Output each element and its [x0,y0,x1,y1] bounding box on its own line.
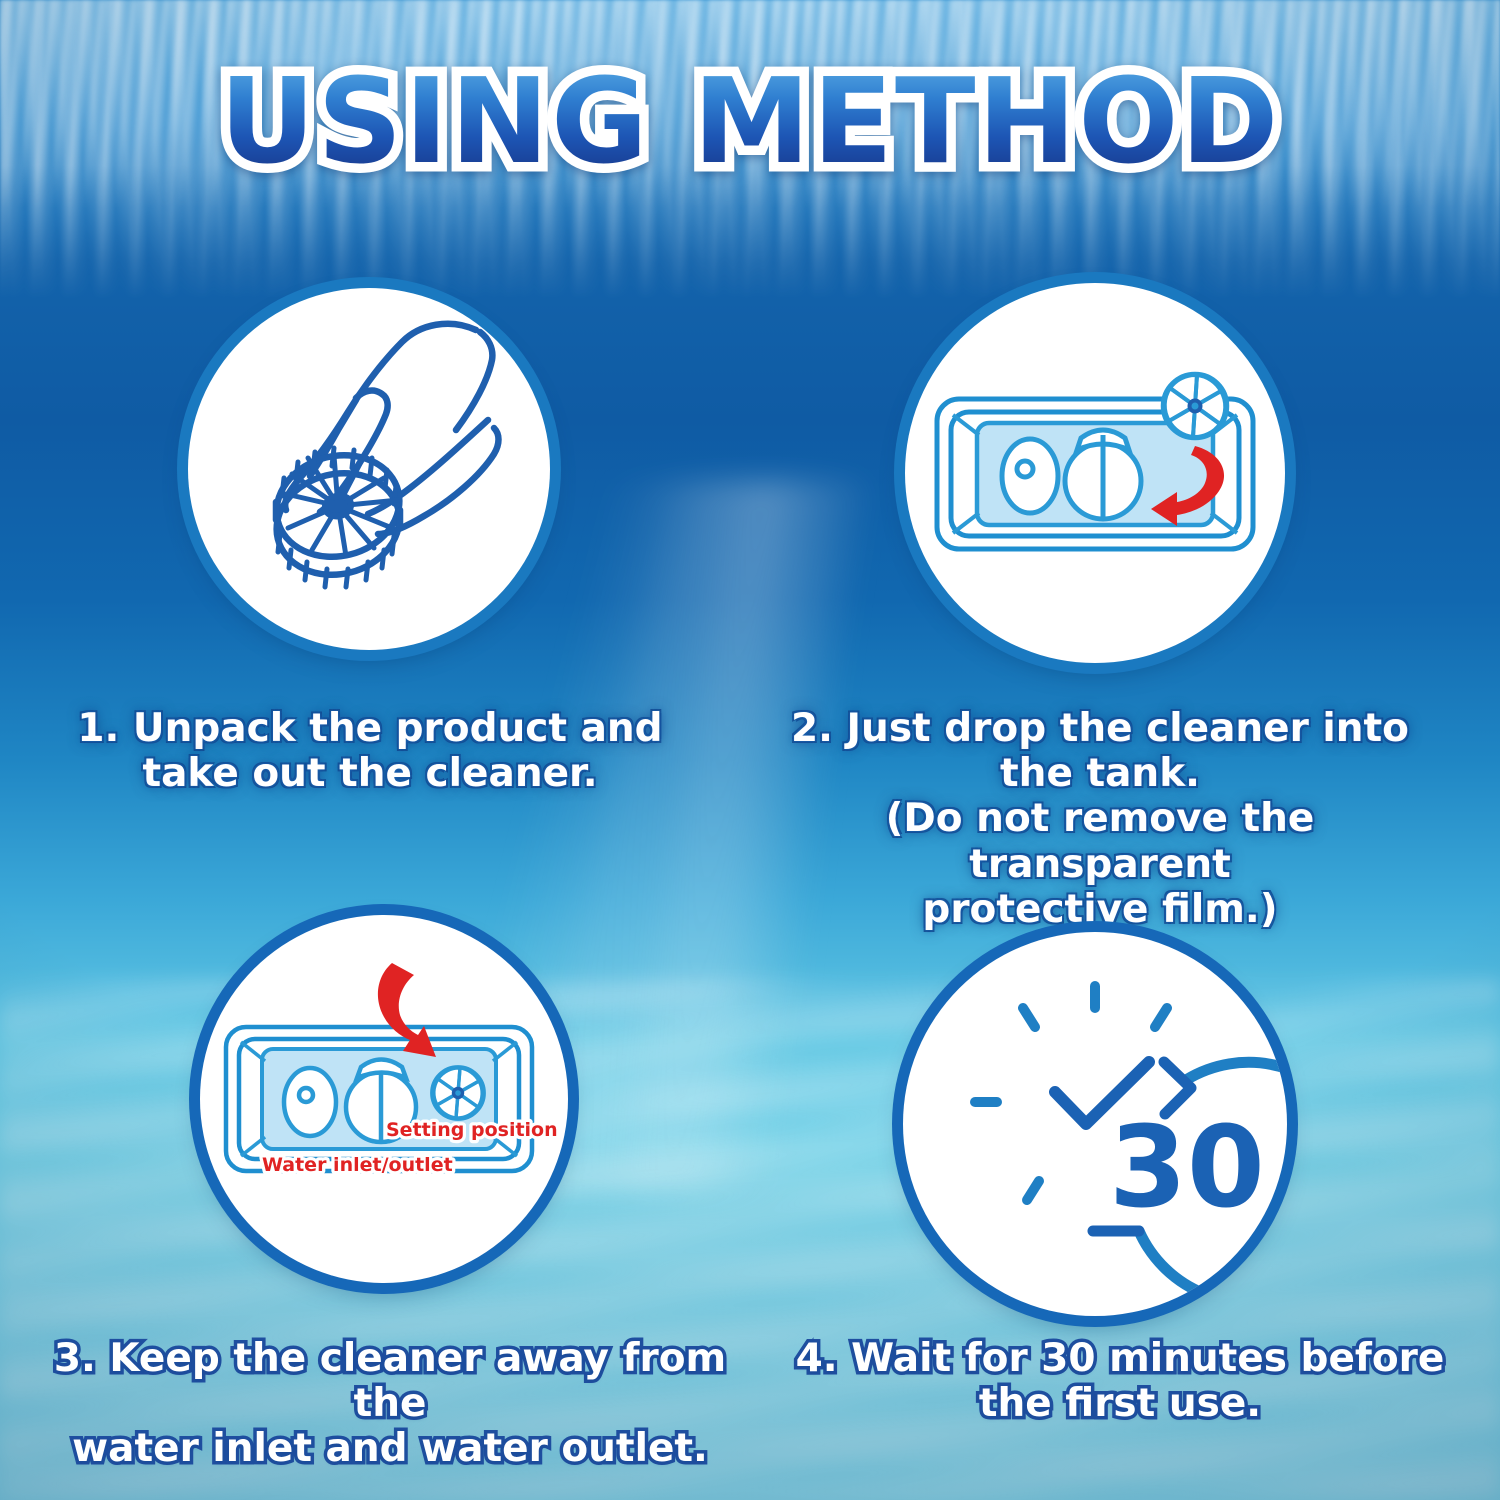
hand-holding-disc-cleaner-icon [188,288,550,650]
step-2-caption-line-2: (Do not remove the transparent [760,796,1440,886]
step-3-icon-circle: Setting position Setting position Water … [200,915,568,1283]
step-2-caption-line-1: 2. Just drop the cleaner into the tank. [760,706,1440,796]
page-title: USING METHOD USING METHOD [0,62,1500,180]
svg-text:Setting position: Setting position [386,1119,558,1141]
step-4-caption: 4. Wait for 30 minutes before the first … [790,1336,1450,1426]
clock-minutes-value: 30 [1109,1103,1265,1233]
step-3-caption-line-2: water inlet and water outlet. [40,1426,740,1471]
step-4-caption-line-2: the first use. [790,1381,1450,1426]
toilet-tank-drop-cleaner-icon [905,283,1285,663]
red-curved-arrow-icon [378,963,436,1057]
step-4-icon-circle: 30 [903,932,1287,1316]
toilet-tank-setting-position-icon: Setting position Setting position Water … [200,915,568,1283]
water-inlet-outlet-label: Water inlet/outlet Water inlet/outlet [262,1154,453,1176]
step-3-caption: 3. Keep the cleaner away from the water … [40,1336,740,1472]
step-1-caption: 1. Unpack the product and take out the c… [60,706,680,796]
step-2-caption: 2. Just drop the cleaner into the tank. … [760,706,1440,932]
step-2-caption-line-3: protective film.) [760,887,1440,932]
step-4-caption-line-1: 4. Wait for 30 minutes before [790,1336,1450,1381]
page-title-fill: USING METHOD [220,52,1281,190]
instruction-poster: USING METHOD USING METHOD [0,0,1500,1500]
step-1-icon-circle [188,288,550,650]
svg-text:Water inlet/outlet: Water inlet/outlet [262,1154,453,1176]
step-1-caption-line-2: take out the cleaner. [60,751,680,796]
step-2-icon-circle [905,283,1285,663]
step-1-caption-line-1: 1. Unpack the product and [60,706,680,751]
step-3-caption-line-1: 3. Keep the cleaner away from the [40,1336,740,1426]
disc-cleaner-graphic [432,1067,484,1119]
disc-cleaner-graphic [1163,374,1227,438]
clock-30-minutes-icon: 30 [903,932,1287,1316]
setting-position-label: Setting position Setting position [386,1119,558,1141]
